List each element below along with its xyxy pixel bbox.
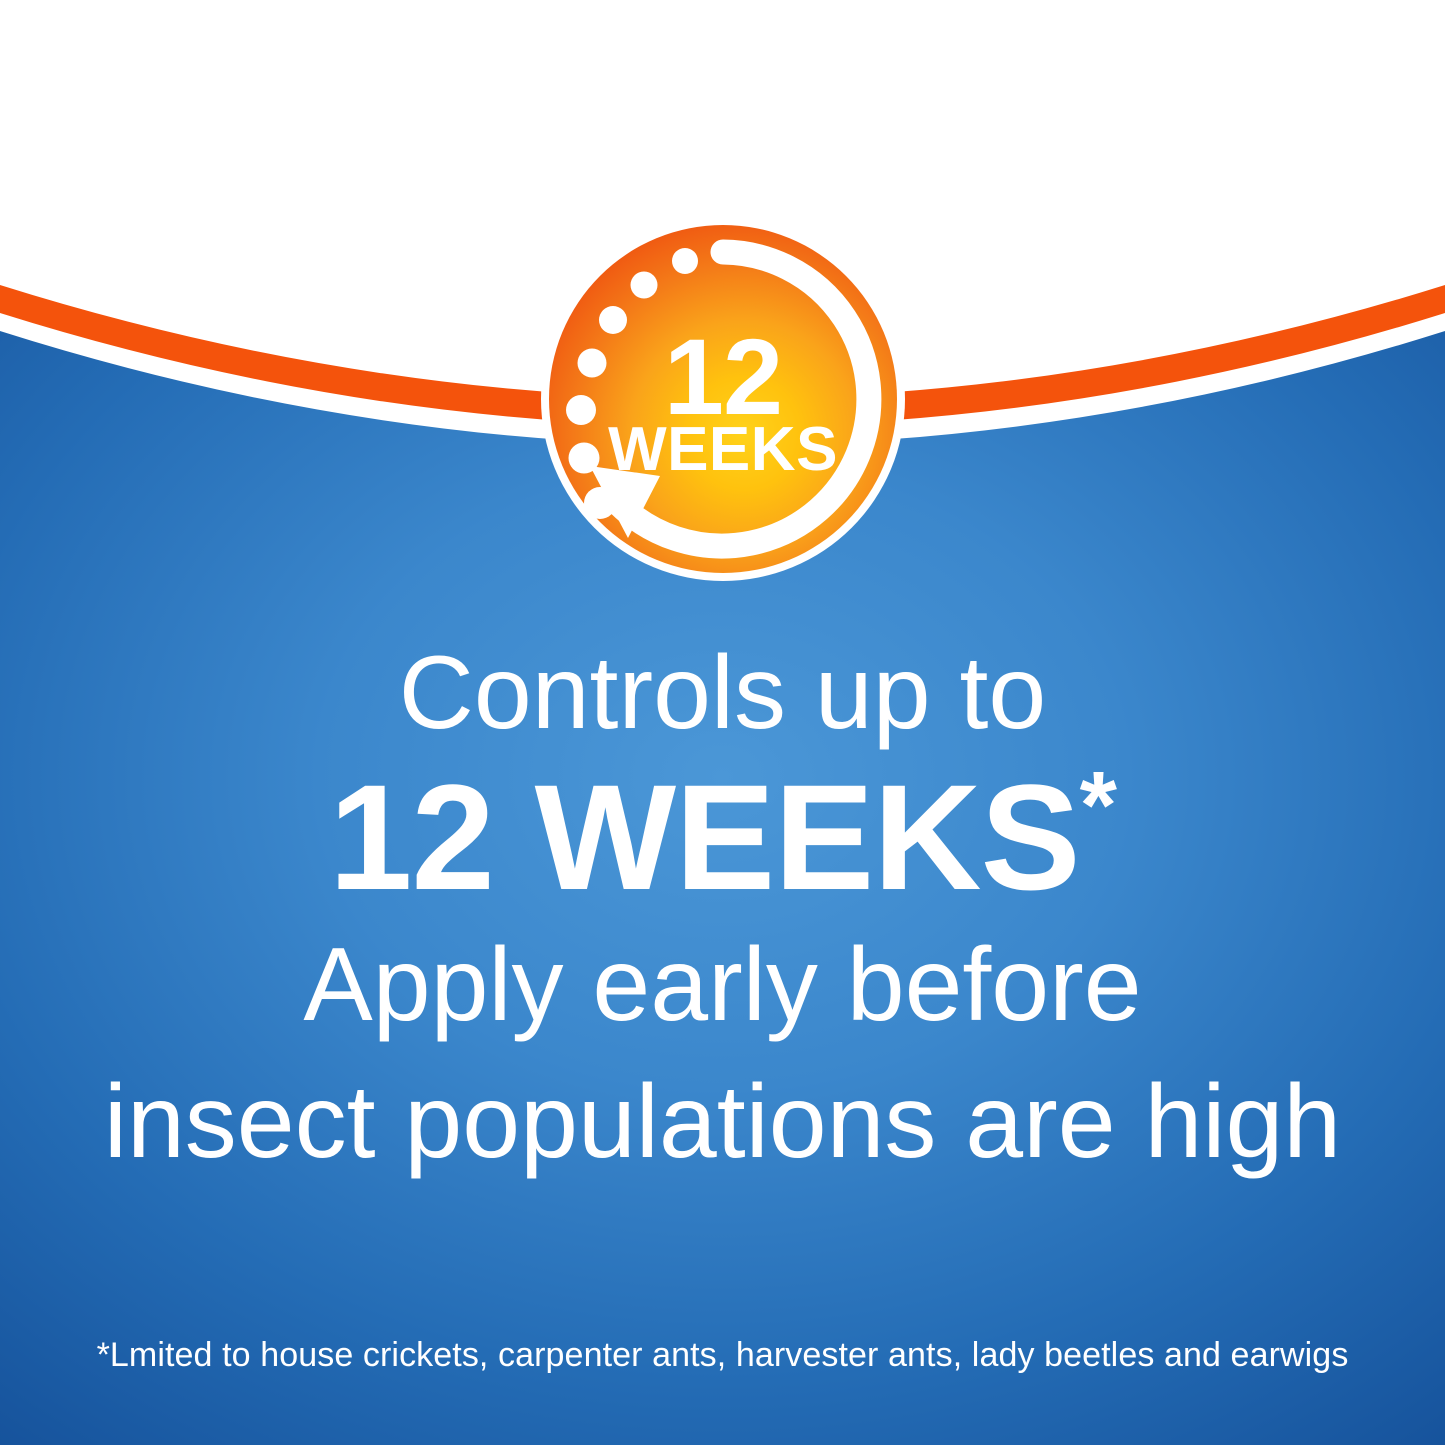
badge-graphic: 12 WEEKS — [532, 208, 914, 590]
subhead-line-2: insect populations are high — [0, 1059, 1445, 1186]
headline-kicker: Controls up to — [0, 640, 1445, 746]
subhead-line-1: Apply early before — [0, 922, 1445, 1049]
headline-block: Controls up to 12 WEEKS* Apply early bef… — [0, 640, 1445, 1186]
headline-hero: 12 WEEKS* — [0, 762, 1445, 912]
footnote-disclaimer: *Lmited to house crickets, carpenter ant… — [0, 1336, 1445, 1375]
promo-graphic: 12 WEEKS Controls up to 12 WEEKS* Apply … — [0, 0, 1445, 1445]
headline-footnote-marker: * — [1080, 752, 1116, 859]
badge-unit-label: WEEKS — [608, 415, 838, 484]
duration-badge: 12 WEEKS — [532, 208, 914, 590]
headline-hero-text: 12 WEEKS — [329, 753, 1080, 921]
